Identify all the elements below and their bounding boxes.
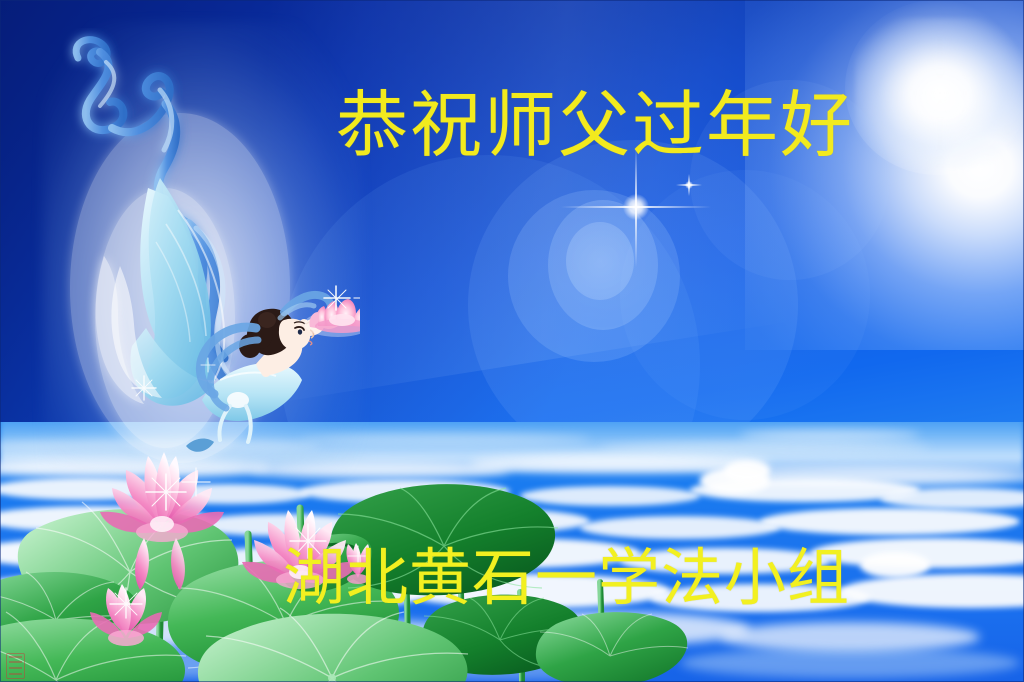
flying-celestial-fairy xyxy=(60,28,360,478)
greeting-card: 恭祝师父过年好 湖北黄石一学法小组 xyxy=(0,0,1024,682)
fairy-illustration xyxy=(60,28,360,478)
red-seal-watermark xyxy=(6,653,25,679)
page-title: 恭祝师父过年好 xyxy=(336,84,854,166)
lens-flare-bubble-5 xyxy=(566,222,634,300)
signature-text: 湖北黄石一学法小组 xyxy=(283,542,850,614)
